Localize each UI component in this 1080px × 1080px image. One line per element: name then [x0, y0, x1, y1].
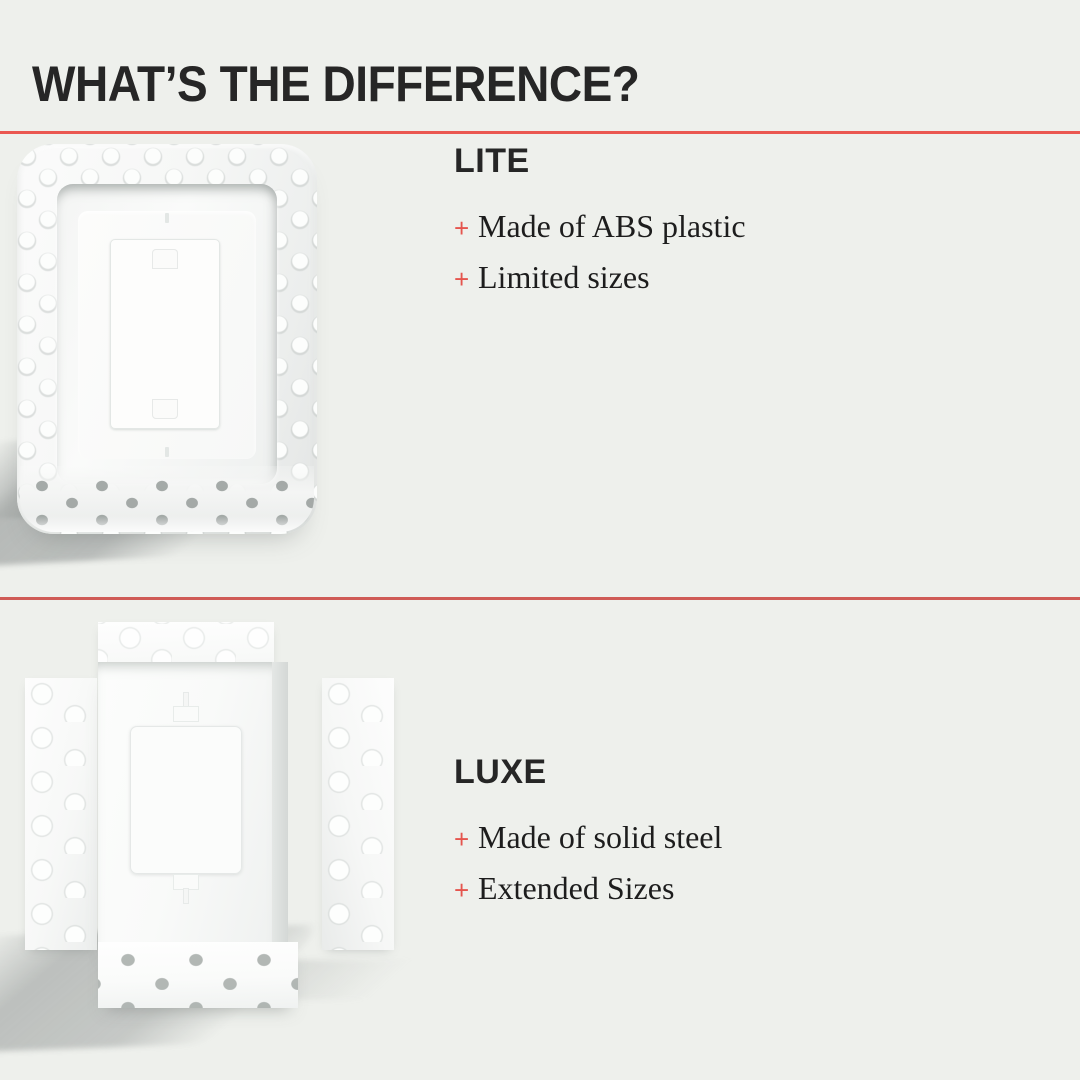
feature-item: + Made of solid steel	[454, 813, 1014, 864]
feature-item: + Made of ABS plastic	[454, 202, 1014, 253]
luxe-flange-right-holes	[322, 678, 394, 950]
lite-wall-plate-body	[17, 144, 317, 534]
lite-bottom-rim	[20, 466, 314, 532]
luxe-body-right-edge	[272, 662, 288, 954]
luxe-flange-left	[25, 678, 97, 950]
feature-text: Made of solid steel	[478, 813, 722, 862]
lite-screw-slot-top	[165, 213, 169, 223]
feature-text: Limited sizes	[478, 253, 650, 302]
page-title: WHAT’S THE DIFFERENCE?	[32, 58, 639, 110]
luxe-product-illustration	[0, 600, 440, 1080]
lite-recessed-well	[57, 184, 277, 484]
product-image-lite	[0, 134, 440, 597]
luxe-decorator-opening	[130, 726, 242, 874]
plus-icon: +	[454, 255, 478, 304]
lite-screw-slot-bottom	[165, 447, 169, 457]
product-info-lite: LITE + Made of ABS plastic + Limited siz…	[454, 144, 1014, 304]
lite-mount-tab-top	[152, 249, 178, 269]
header: WHAT’S THE DIFFERENCE?	[0, 0, 1080, 131]
plus-icon: +	[454, 815, 478, 864]
lite-decorator-opening	[110, 239, 220, 429]
luxe-mount-tab-top	[173, 706, 199, 722]
feature-list-luxe: + Made of solid steel + Extended Sizes	[454, 813, 1014, 915]
section-lite: LITE + Made of ABS plastic + Limited siz…	[0, 134, 1080, 597]
luxe-flange-left-holes	[25, 678, 97, 950]
luxe-flange-right	[322, 678, 394, 950]
product-image-luxe	[0, 600, 440, 1080]
lite-bottom-highlight	[20, 516, 314, 532]
feature-list-lite: + Made of ABS plastic + Limited sizes	[454, 202, 1014, 304]
lite-product-illustration	[0, 134, 440, 597]
comparison-graphic: WHAT’S THE DIFFERENCE?	[0, 0, 1080, 1080]
product-name-lite: LITE	[454, 144, 1014, 178]
feature-item: + Limited sizes	[454, 253, 1014, 304]
luxe-flange-bottom-holes	[98, 942, 298, 1008]
luxe-flange-bottom	[98, 942, 298, 1008]
plus-icon: +	[454, 866, 478, 915]
feature-text: Made of ABS plastic	[478, 202, 746, 251]
product-name-luxe: LUXE	[454, 755, 1014, 789]
feature-text: Extended Sizes	[478, 864, 674, 913]
lite-inner-face	[78, 211, 256, 459]
plus-icon: +	[454, 204, 478, 253]
product-info-luxe: LUXE + Made of solid steel + Extended Si…	[454, 755, 1014, 915]
lite-mount-tab-bottom	[152, 399, 178, 419]
feature-item: + Extended Sizes	[454, 864, 1014, 915]
luxe-screw-stem-bottom	[183, 888, 189, 904]
luxe-wall-plate-body	[98, 662, 274, 954]
section-luxe: LUXE + Made of solid steel + Extended Si…	[0, 600, 1080, 1080]
